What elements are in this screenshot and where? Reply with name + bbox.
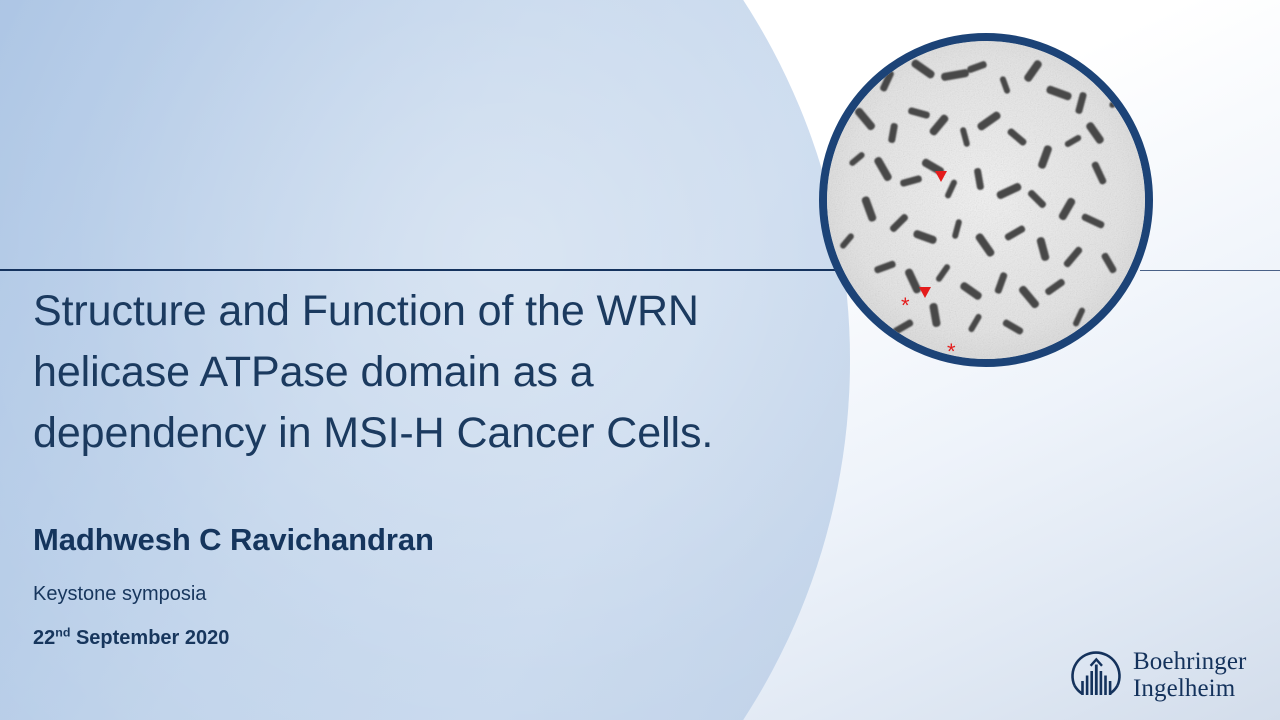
svg-text:*: * (947, 339, 956, 359)
boehringer-ingelheim-logo: Boehringer Ingelheim (1068, 644, 1268, 706)
date-number: 22 (33, 627, 55, 649)
event-name: Keystone symposia (33, 583, 206, 606)
horizontal-divider-left (0, 269, 840, 271)
logo-line-1: Boehringer (1133, 648, 1246, 675)
chromosome-spread-figure: * * * (819, 33, 1153, 367)
slide-title: Structure and Function of the WRN helica… (33, 281, 833, 464)
boehringer-ingelheim-mark-icon (1068, 647, 1124, 703)
logo-line-2: Ingelheim (1133, 675, 1246, 702)
date-rest: September 2020 (70, 627, 229, 649)
svg-text:*: * (901, 293, 910, 318)
presentation-date: 22nd September 2020 (33, 627, 229, 650)
horizontal-divider-right (1140, 270, 1280, 271)
presentation-title-slide: * * * Structure and Function of the WRN … (0, 0, 1280, 720)
presenter-name: Madhwesh C Ravichandran (33, 522, 434, 558)
chromosome-spread-image: * * * (827, 41, 1145, 359)
date-ordinal-suffix: nd (55, 625, 70, 639)
logo-wordmark: Boehringer Ingelheim (1133, 648, 1246, 702)
